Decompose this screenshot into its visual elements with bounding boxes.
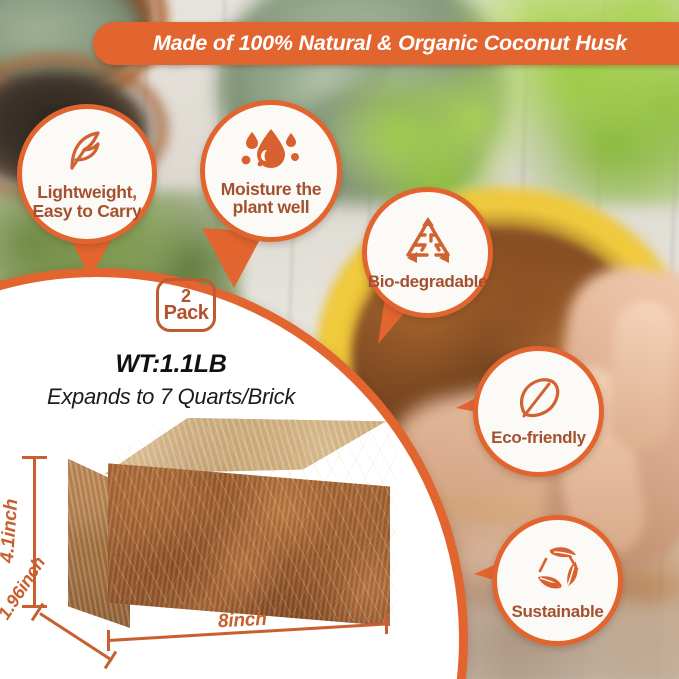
product-weight: WT:1.1LB — [0, 350, 342, 379]
coir-brick-product — [50, 418, 400, 633]
dimension-width-cap-left — [107, 630, 110, 651]
infographic-canvas: 2 Pack WT:1.1LB Expands to 7 Quarts/Bric… — [0, 0, 679, 679]
pack-count-word: Pack — [164, 304, 209, 322]
product-details: 2 Pack WT:1.1LB Expands to 7 Quarts/Bric… — [0, 0, 679, 679]
dimension-height-cap-top — [22, 456, 47, 459]
pack-count-badge: 2 Pack — [156, 278, 216, 332]
dimension-height-label: 4.1inch — [0, 498, 23, 563]
dimension-width-label: 8inch — [217, 609, 267, 634]
brick-front-face — [108, 460, 390, 626]
product-expansion: Expands to 7 Quarts/Brick — [0, 384, 342, 410]
dimension-width-cap-right — [385, 613, 388, 634]
